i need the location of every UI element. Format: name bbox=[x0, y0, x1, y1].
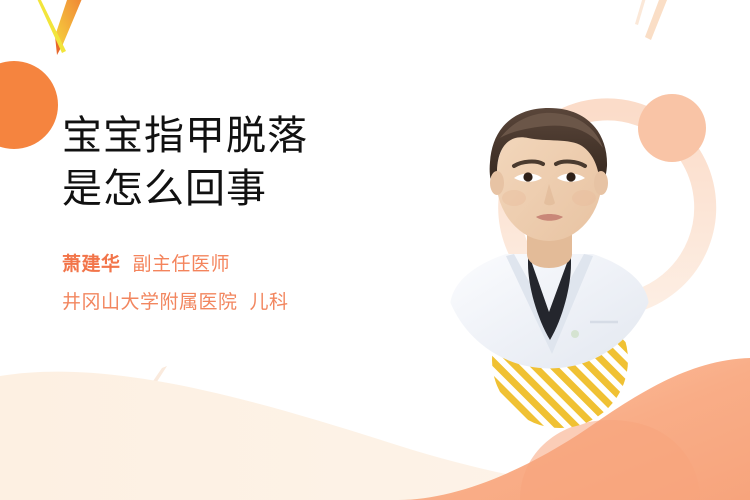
doctor-info: 萧建华副主任医师 井冈山大学附属医院儿科 bbox=[62, 246, 402, 322]
doctor-affiliation-row: 井冈山大学附属医院儿科 bbox=[62, 284, 402, 322]
doctor-name-row: 萧建华副主任医师 bbox=[62, 246, 402, 284]
doctor-portrait bbox=[442, 86, 657, 376]
page-title-line-2: 是怎么回事 bbox=[62, 163, 402, 216]
doctor-name: 萧建华 bbox=[62, 254, 121, 275]
doctor-hospital: 井冈山大学附属医院 bbox=[62, 292, 238, 313]
page-title-line-1: 宝宝指甲脱落 bbox=[62, 110, 402, 163]
text-block: 宝宝指甲脱落 是怎么回事 萧建华副主任医师 井冈山大学附属医院儿科 bbox=[62, 110, 402, 322]
poster-card: 宝宝指甲脱落 是怎么回事 萧建华副主任医师 井冈山大学附属医院儿科 bbox=[0, 0, 750, 500]
doctor-department: 儿科 bbox=[250, 292, 289, 313]
doctor-role: 副主任医师 bbox=[133, 254, 231, 275]
